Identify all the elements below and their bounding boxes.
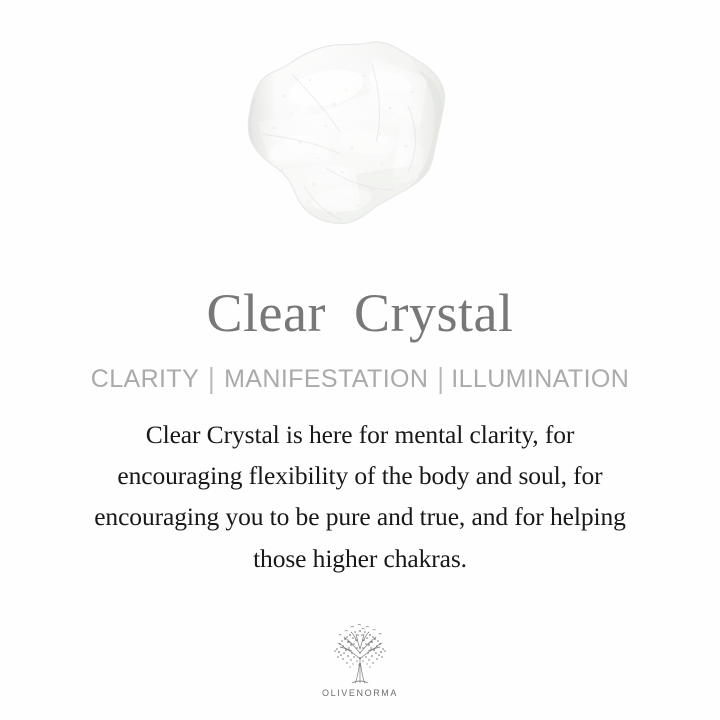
brand-name: OLIVENORMA <box>322 688 398 698</box>
keyword-separator: | <box>437 365 444 394</box>
tree-icon <box>322 623 398 685</box>
birds-icon <box>339 624 381 635</box>
crystal-body <box>222 30 477 262</box>
product-info-card: Clear Crystal CLARITY | MANIFESTATION | … <box>0 0 720 720</box>
keyword-clarity: CLARITY <box>91 367 199 392</box>
description-line: those higher chakras. <box>40 538 680 579</box>
product-description: Clear Crystal is here for mental clarity… <box>40 414 680 579</box>
keyword-illumination: ILLUMINATION <box>451 367 629 392</box>
description-line: Clear Crystal is here for mental clarity… <box>40 414 680 455</box>
keyword-list: CLARITY | MANIFESTATION | ILLUMINATION <box>91 367 629 392</box>
description-line: encouraging you to be pure and true, and… <box>40 496 680 537</box>
crystal-image-stage <box>0 0 720 285</box>
crystal-image <box>222 30 477 262</box>
clear-quartz-icon <box>222 30 477 262</box>
brand-logo: OLIVENORMA <box>0 623 720 698</box>
page-title: Clear Crystal <box>207 285 514 342</box>
keyword-manifestation: MANIFESTATION <box>224 367 428 392</box>
description-line: encouraging flexibility of the body and … <box>40 455 680 496</box>
keyword-separator: | <box>208 365 215 394</box>
